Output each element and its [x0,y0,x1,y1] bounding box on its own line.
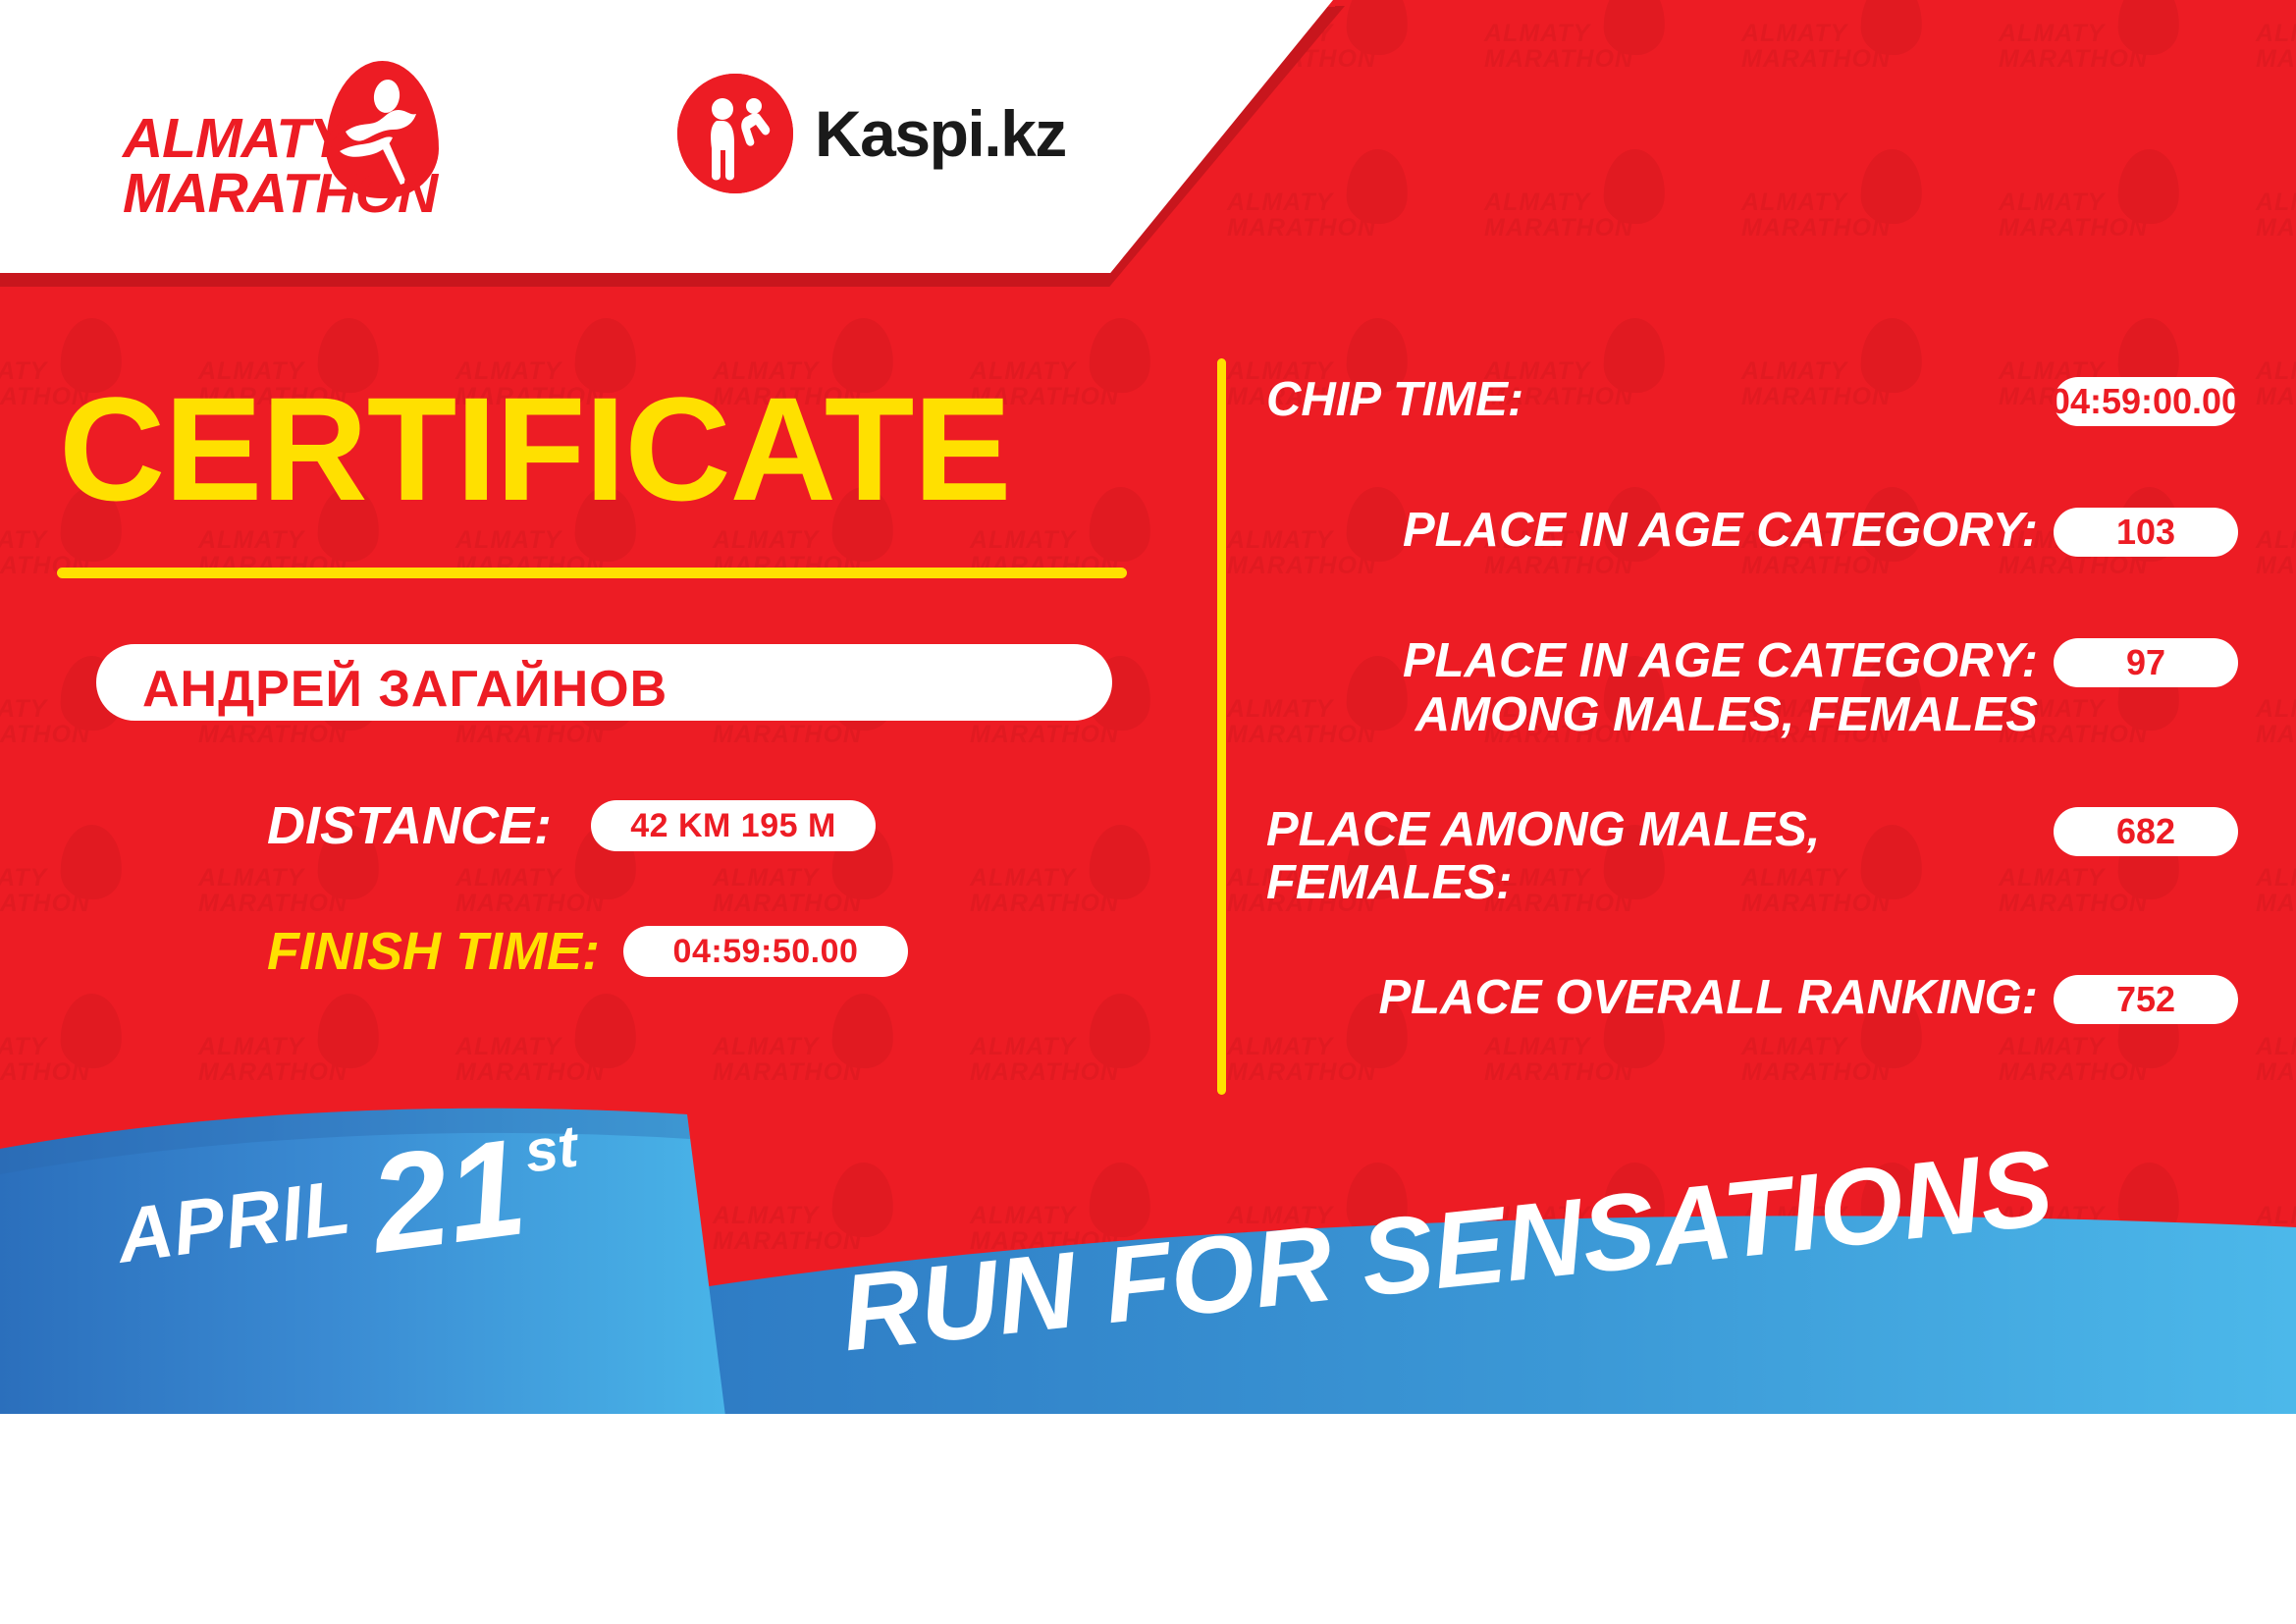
marathon-logo-text: ALMATY MARATHON [123,112,437,222]
result-row-age-category: PLACE IN AGE CATEGORY: 103 [1266,504,2238,558]
distance-value: 42 KM 195 M [591,800,876,851]
marathon-logo-line2: MARATHON [123,167,437,222]
result-label: CHIP TIME: [1266,373,2054,427]
marathon-logo-line1: ALMATY [123,112,437,167]
result-value: 103 [2054,508,2238,557]
kaspi-wordmark: Kaspi.kz [815,96,1066,171]
result-row-among-gender: PLACE AMONG MALES, FEMALES: 682 [1266,803,2238,911]
distance-row: DISTANCE: 42 KM 195 M [267,795,876,856]
result-label: PLACE IN AGE CATEGORY: [1266,504,2054,558]
result-row-age-category-gender: PLACE IN AGE CATEGORY: AMONG MALES, FEMA… [1266,634,2238,742]
finish-time-label: FINISH TIME: [267,921,600,982]
vertical-divider [1217,358,1226,1095]
kaspi-logo: Kaspi.kz [677,74,1066,193]
sponsor-bar: Sulpak SANOFI Empowering Life ORIFLAME S… [0,1414,2296,1624]
participant-name: АНДРЕЙ ЗАГАЙНОВ [142,660,667,719]
result-value: 97 [2054,638,2238,687]
title-underline [57,568,1127,578]
result-label: PLACE AMONG MALES, FEMALES: [1266,803,2054,911]
result-value: 04:59:00.00 [2054,377,2238,426]
kaspi-mark-icon [677,74,793,193]
result-row-overall: PLACE OVERALL RANKING: 752 [1266,971,2238,1025]
page-title: CERTIFICATE [59,375,1011,522]
result-value: 752 [2054,975,2238,1024]
result-value: 682 [2054,807,2238,856]
certificate-canvas: ALMATYMARATHONALMATYMARATHONALMATYMARATH… [0,0,2296,1624]
result-label: PLACE IN AGE CATEGORY: AMONG MALES, FEMA… [1266,634,2054,742]
almaty-marathon-logo: ALMATY MARATHON [123,61,447,228]
distance-label: DISTANCE: [267,795,552,856]
results-list: CHIP TIME: 04:59:00.00 PLACE IN AGE CATE… [1266,373,2238,1082]
result-label: PLACE OVERALL RANKING: [1266,971,2054,1025]
ribbon-day: 21 [364,1127,531,1263]
finish-time-row: FINISH TIME: 04:59:50.00 [267,921,908,982]
result-row-chip-time: CHIP TIME: 04:59:00.00 [1266,373,2238,427]
finish-time-value: 04:59:50.00 [623,926,908,977]
